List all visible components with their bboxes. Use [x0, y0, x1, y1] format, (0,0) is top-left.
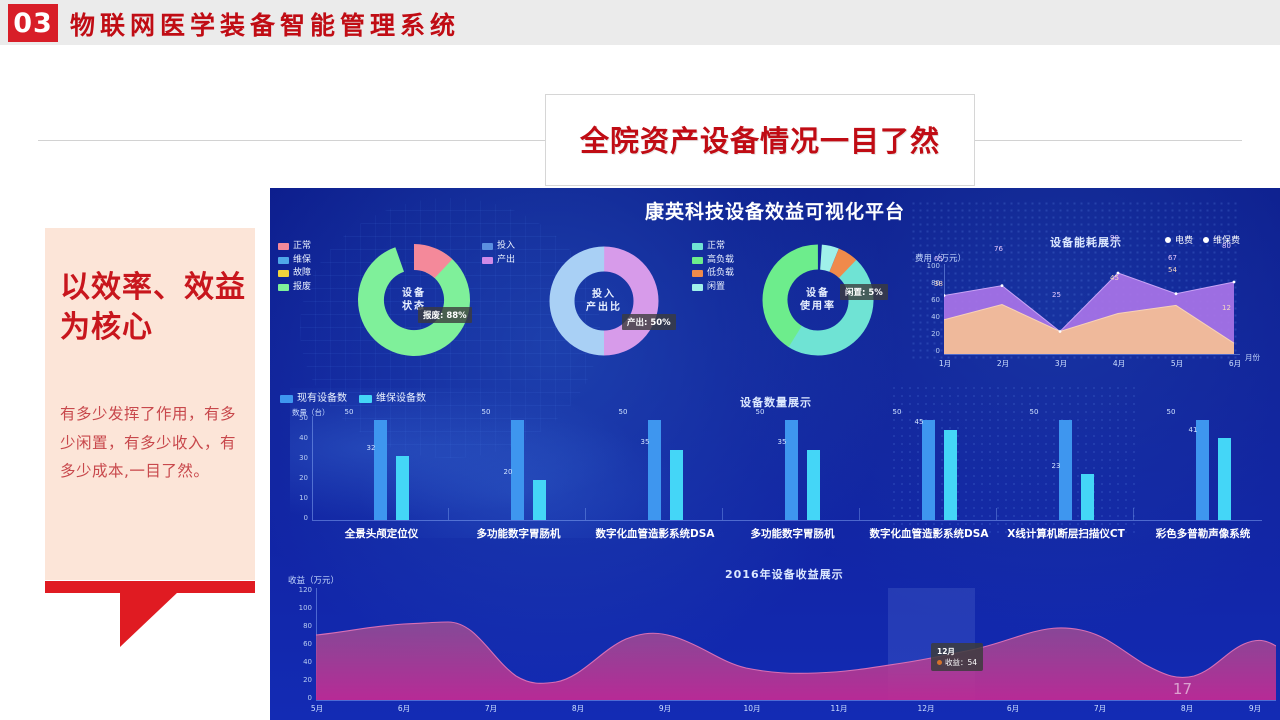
y-tick: 100 [910, 262, 940, 270]
energy-value-label: 67 [1168, 254, 1177, 262]
bar-value-label: 45 [904, 418, 934, 426]
x-tick: 9月 [650, 703, 680, 714]
donut-status-svg [354, 240, 474, 360]
donut-status-tooltip: 报废: 88% [418, 307, 472, 323]
section-number-badge: 03 [8, 4, 58, 42]
donut-io-legend: 投入 产出 [482, 240, 515, 267]
y-tick: 50 [280, 414, 308, 422]
legend-swatch-idle [692, 284, 703, 291]
legend-label: 报废 [293, 281, 311, 295]
y-tick: 60 [280, 640, 312, 648]
legend-dot-electricity-icon [1165, 237, 1171, 243]
legend-item: 投入 [482, 240, 515, 254]
x-tick: 9月 [1240, 703, 1270, 714]
x-tick: 6月 [998, 703, 1028, 714]
x-tick: 4月 [1104, 358, 1134, 369]
y-tick: 20 [280, 474, 308, 482]
bar-maintained[interactable] [396, 456, 409, 520]
bar-value-label: 35 [767, 438, 797, 446]
legend-item: 现有设备数 维保设备数 [280, 392, 426, 406]
legend-item: 电费 [1165, 233, 1193, 246]
legend-dot-maintenance-icon [1203, 237, 1209, 243]
x-tick: 5月 [1162, 358, 1192, 369]
x-tick: 1月 [930, 358, 960, 369]
callout-arrow-pointer [120, 592, 178, 647]
bar-category-label: 多功能数字胃肠机 [451, 526, 586, 541]
bar-existing[interactable] [1059, 420, 1072, 520]
bar-value-label: 41 [1178, 426, 1208, 434]
donut-usage-tooltip: 闲置: 5% [840, 284, 888, 300]
energy-value-label: 65 [934, 255, 943, 263]
bar-value-label: 50 [882, 408, 912, 416]
bar-existing[interactable] [785, 420, 798, 520]
legend-item: 报废 [278, 281, 311, 295]
callout-heading: 以效率、效益为核心 [60, 268, 250, 347]
donut-io-tooltip: 产出: 50% [622, 314, 676, 330]
legend-label: 现有设备数 [297, 392, 347, 406]
legend-label: 故障 [293, 267, 311, 281]
bar-value-label: 50 [1019, 408, 1049, 416]
bar-maintained[interactable] [1218, 438, 1231, 520]
legend-label: 高负载 [707, 254, 734, 268]
tooltip-row: 收益：54 [937, 657, 977, 668]
y-tick: 20 [910, 330, 940, 338]
y-tick: 30 [280, 454, 308, 462]
x-tick: 12月 [911, 703, 941, 714]
legend-swatch-input [482, 243, 493, 250]
slide-page-number: 17 [1173, 680, 1192, 698]
y-tick: 0 [280, 694, 312, 702]
donut-chart-equipment-status[interactable]: 设备 状态 [354, 240, 474, 360]
legend-swatch-maintenance [278, 257, 289, 264]
tooltip-title: 12月 [937, 646, 977, 657]
bar-existing[interactable] [374, 420, 387, 520]
legend-item: 正常 [278, 240, 311, 254]
energy-value-label: 80 [1222, 242, 1231, 250]
legend-label: 正常 [293, 240, 311, 254]
energy-value-label: 90 [1110, 234, 1119, 242]
energy-value-label: 54 [1168, 266, 1177, 274]
energy-value-label: 12 [1222, 304, 1231, 312]
donut-usage-svg [758, 240, 878, 360]
x-tick: 3月 [1046, 358, 1076, 369]
revenue-x-axis-line [316, 700, 1276, 701]
x-tick: 10月 [737, 703, 767, 714]
bar-maintained[interactable] [1081, 474, 1094, 520]
y-tick: 100 [280, 604, 312, 612]
legend-item: 产出 [482, 254, 515, 268]
tooltip-marker-icon [937, 660, 942, 665]
energy-chart-plot[interactable]: 100 80 60 40 20 0 65 76 25 90 67 80 38 4… [910, 266, 1260, 376]
legend-swatch-normal [278, 243, 289, 250]
y-tick: 120 [280, 586, 312, 594]
legend-item: 高负载 [692, 254, 734, 268]
y-tick: 20 [280, 676, 312, 684]
donut-chart-equipment-usage[interactable]: 设备 使用率 [758, 240, 878, 360]
legend-label: 维保设备数 [376, 392, 426, 406]
donut-usage-legend: 正常 高负载 低负载 闲置 [692, 240, 734, 294]
legend-label: 投入 [497, 240, 515, 254]
bar-category-label: 多功能数字胃肠机 [725, 526, 860, 541]
legend-swatch-low-load [692, 270, 703, 277]
bar-category-label: 数字化血管造影系统DSA [859, 526, 999, 541]
y-tick: 0 [910, 347, 940, 355]
x-tick: 7月 [476, 703, 506, 714]
bar-category-label: 数字化血管造影系统DSA [585, 526, 725, 541]
legend-label: 电费 [1175, 233, 1193, 246]
bar-chart-legend: 现有设备数 维保设备数 [280, 392, 426, 406]
revenue-y-axis-label: 收益（万元） [288, 574, 339, 586]
bar-category-label: 全景头颅定位仪 [314, 526, 449, 541]
bar-existing[interactable] [922, 420, 935, 520]
y-tick: 40 [280, 658, 312, 666]
legend-swatch-output [482, 257, 493, 264]
revenue-tooltip: 12月 收益：54 [931, 643, 983, 671]
energy-value-label: 25 [1052, 291, 1061, 299]
slide-title: 全院资产设备情况一目了然 [545, 118, 975, 160]
bar-value-label: 35 [630, 438, 660, 446]
legend-swatch-fault [278, 270, 289, 277]
legend-item: 正常 [692, 240, 734, 254]
x-tick: 5月 [302, 703, 332, 714]
bar-maintained[interactable] [807, 450, 820, 520]
legend-swatch-high-load [692, 257, 703, 264]
legend-swatch-existing-equipment [280, 395, 293, 403]
y-tick: 60 [910, 296, 940, 304]
energy-value-label: 45 [1110, 274, 1119, 282]
legend-label: 闲置 [707, 281, 725, 295]
dashboard-screenshot: 康英科技设备效益可视化平台 正常 维保 故障 报废 设备 状态 报废: 88% … [270, 188, 1280, 720]
bar-maintained[interactable] [670, 450, 683, 520]
bar-category-label: X线计算机断层扫描仪CT [996, 526, 1136, 541]
page-title: 物联网医学装备智能管理系统 [70, 6, 460, 42]
bar-value-label: 20 [493, 468, 523, 476]
x-tick: 2月 [988, 358, 1018, 369]
bar-maintained[interactable] [944, 430, 957, 520]
bar-maintained[interactable] [533, 480, 546, 520]
bar-existing[interactable] [1196, 420, 1209, 520]
x-tick: 6月 [389, 703, 419, 714]
legend-item: 故障 [278, 267, 311, 281]
bar-chart-plot[interactable]: 50 40 30 20 10 0 [280, 418, 1270, 538]
revenue-chart-plot[interactable]: 120 100 80 60 40 20 0 12月 收益：54 [280, 590, 1280, 720]
y-tick: 10 [280, 494, 308, 502]
x-tick: 7月 [1085, 703, 1115, 714]
bar-existing[interactable] [648, 420, 661, 520]
x-tick: 8月 [563, 703, 593, 714]
callout-body-text: 有多少发挥了作用，有多少闲置，有多少收入，有多少成本,一目了然。 [60, 400, 246, 486]
legend-label: 维保 [293, 254, 311, 268]
bar-x-axis-line [312, 520, 1262, 521]
y-tick: 40 [280, 434, 308, 442]
legend-label: 产出 [497, 254, 515, 268]
revenue-area-svg [316, 588, 1276, 700]
donut-io-svg [546, 243, 662, 359]
bar-value-label: 50 [1156, 408, 1186, 416]
x-tick: 8月 [1172, 703, 1202, 714]
revenue-chart-title: 2016年设备收益展示 [725, 566, 844, 582]
bar-value-label: 50 [471, 408, 501, 416]
bar-value-label: 50 [334, 408, 364, 416]
x-tick: 6月 [1220, 358, 1250, 369]
legend-label: 正常 [707, 240, 725, 254]
dashboard-title: 康英科技设备效益可视化平台 [270, 197, 1280, 224]
tooltip-value: 收益：54 [945, 657, 977, 668]
energy-value-label: 76 [994, 245, 1003, 253]
donut-status-legend: 正常 维保 故障 报废 [278, 240, 311, 294]
legend-swatch-scrapped [278, 284, 289, 291]
y-tick: 40 [910, 313, 940, 321]
legend-swatch-maintained-equipment [359, 395, 372, 403]
bar-category-label: 彩色多普勒声像系统 [1133, 526, 1273, 541]
legend-label: 低负载 [707, 267, 734, 281]
legend-item: 维保 [278, 254, 311, 268]
bar-value-label: 23 [1041, 462, 1071, 470]
donut-chart-input-output[interactable]: 投入 产出比 [546, 243, 662, 359]
legend-item: 闲置 [692, 281, 734, 295]
y-tick: 80 [280, 622, 312, 630]
energy-area-svg [944, 264, 1244, 356]
legend-item: 低负载 [692, 267, 734, 281]
energy-value-label: 38 [934, 280, 943, 288]
y-tick: 0 [280, 514, 308, 522]
bar-value-label: 50 [608, 408, 638, 416]
bar-value-label: 32 [356, 444, 386, 452]
legend-swatch-normal [692, 243, 703, 250]
x-tick: 11月 [824, 703, 854, 714]
bar-value-label: 50 [745, 408, 775, 416]
